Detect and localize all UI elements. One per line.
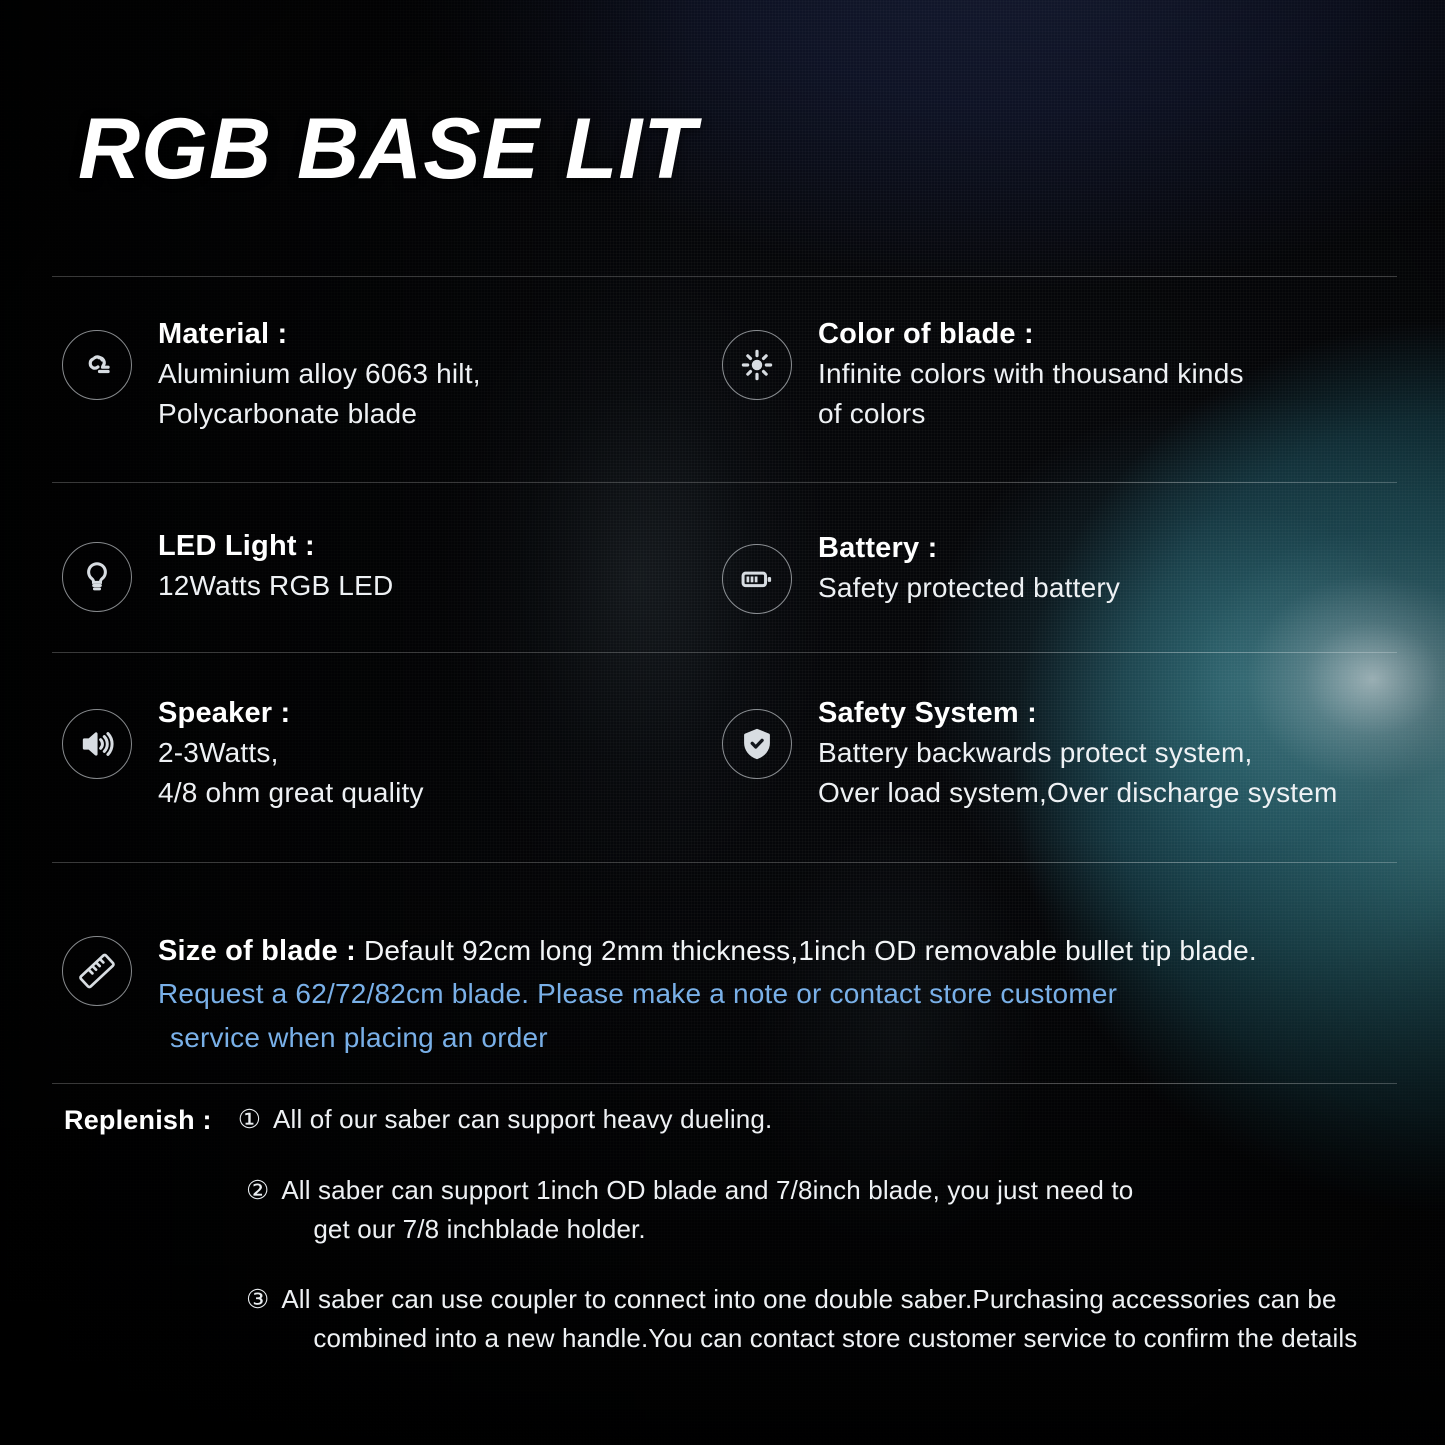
replenish-text-2-line1: All saber can support 1inch OD blade and… xyxy=(281,1175,1133,1205)
battery-icon xyxy=(722,544,792,614)
page-title: RGB BASE LIT xyxy=(78,100,697,199)
spec-item-led-light: LED Light : 12Watts RGB LED xyxy=(62,526,393,612)
spec-value-line: Polycarbonate blade xyxy=(158,394,481,434)
replenish-number-3: ③ xyxy=(246,1280,269,1319)
replenish-item-2: ② All saber can support 1inch OD blade a… xyxy=(246,1171,1424,1250)
spec-label: Battery : xyxy=(818,528,1120,568)
replenish-section: Replenish : ① All of our saber can suppo… xyxy=(64,1100,1424,1359)
size-of-blade-default: Size of blade : Default 92cm long 2mm th… xyxy=(158,930,1257,972)
spec-value-line: Safety protected battery xyxy=(818,568,1120,608)
replenish-item-1: Replenish : ① All of our saber can suppo… xyxy=(64,1100,1424,1141)
replenish-number-1: ① xyxy=(238,1100,261,1139)
replenish-text-3-line1: All saber can use coupler to connect int… xyxy=(281,1284,1336,1314)
divider-4 xyxy=(52,862,1397,863)
shield-check-icon xyxy=(722,709,792,779)
spec-value-line: Infinite colors with thousand kinds xyxy=(818,354,1244,394)
divider-1 xyxy=(52,276,1397,277)
size-of-blade-note-line1: Request a 62/72/82cm blade. Please make … xyxy=(158,972,1257,1016)
spec-item-color-of-blade: Color of blade : Infinite colors with th… xyxy=(722,314,1244,434)
replenish-text-2-line2: get our 7/8 inchblade holder. xyxy=(281,1210,1133,1250)
spec-value-line: of colors xyxy=(818,394,1244,434)
replenish-text-3: All saber can use coupler to connect int… xyxy=(281,1280,1357,1359)
spec-value-line: Over load system,Over discharge system xyxy=(818,773,1338,813)
product-spec-banner: RGB BASE LIT Material : Aluminium alloy … xyxy=(0,0,1445,1445)
replenish-number-2: ② xyxy=(246,1171,269,1210)
spec-item-size-of-blade: Size of blade : Default 92cm long 2mm th… xyxy=(62,930,1257,1060)
spec-value-line: 12Watts RGB LED xyxy=(158,566,393,606)
spec-label: Material : xyxy=(158,314,481,354)
spec-value-line: Aluminium alloy 6063 hilt, xyxy=(158,354,481,394)
replenish-label: Replenish : xyxy=(64,1100,212,1141)
replenish-text-1: All of our saber can support heavy dueli… xyxy=(273,1100,772,1140)
replenish-text-3-line2: combined into a new handle.You can conta… xyxy=(281,1319,1357,1359)
replenish-text-2: All saber can support 1inch OD blade and… xyxy=(281,1171,1133,1250)
divider-5 xyxy=(52,1083,1397,1084)
size-of-blade-note-line2: service when placing an order xyxy=(158,1016,1257,1060)
spec-label: LED Light : xyxy=(158,526,393,566)
size-of-blade-label: Size of blade : xyxy=(158,935,356,967)
divider-2 xyxy=(52,482,1397,483)
material-chain-icon xyxy=(62,330,132,400)
lightbulb-icon xyxy=(62,542,132,612)
spec-item-battery: Battery : Safety protected battery xyxy=(722,528,1120,614)
spec-item-material: Material : Aluminium alloy 6063 hilt, Po… xyxy=(62,314,481,434)
spec-item-speaker: Speaker : 2-3Watts, 4/8 ohm great qualit… xyxy=(62,693,424,813)
spec-value-line: 2-3Watts, xyxy=(158,733,424,773)
speaker-icon xyxy=(62,709,132,779)
divider-3 xyxy=(52,652,1397,653)
ruler-icon xyxy=(62,936,132,1006)
spec-value-line: Battery backwards protect system, xyxy=(818,733,1338,773)
replenish-item-3: ③ All saber can use coupler to connect i… xyxy=(246,1280,1424,1359)
brightness-sun-icon xyxy=(722,330,792,400)
spec-label: Speaker : xyxy=(158,693,424,733)
spec-label: Color of blade : xyxy=(818,314,1244,354)
spec-label: Safety System : xyxy=(818,693,1338,733)
size-of-blade-default-text: Default 92cm long 2mm thickness,1inch OD… xyxy=(364,935,1257,966)
spec-item-safety-system: Safety System : Battery backwards protec… xyxy=(722,693,1338,813)
spec-value-line: 4/8 ohm great quality xyxy=(158,773,424,813)
